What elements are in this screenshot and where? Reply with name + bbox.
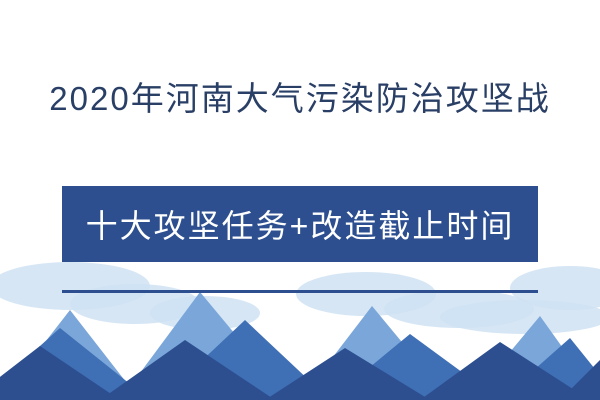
subtitle-underline <box>62 290 538 293</box>
mountain-range <box>0 250 600 400</box>
subtitle-ribbon: 十大攻坚任务+改造截止时间 <box>62 186 538 262</box>
banner-title: 2020年河南大气污染防治攻坚战 <box>0 72 600 120</box>
mountain-svg <box>0 250 600 400</box>
subtitle-text: 十大攻坚任务+改造截止时间 <box>86 201 515 247</box>
banner-image: 2020年河南大气污染防治攻坚战 十大攻坚任务+改造截止时间 <box>0 0 600 400</box>
